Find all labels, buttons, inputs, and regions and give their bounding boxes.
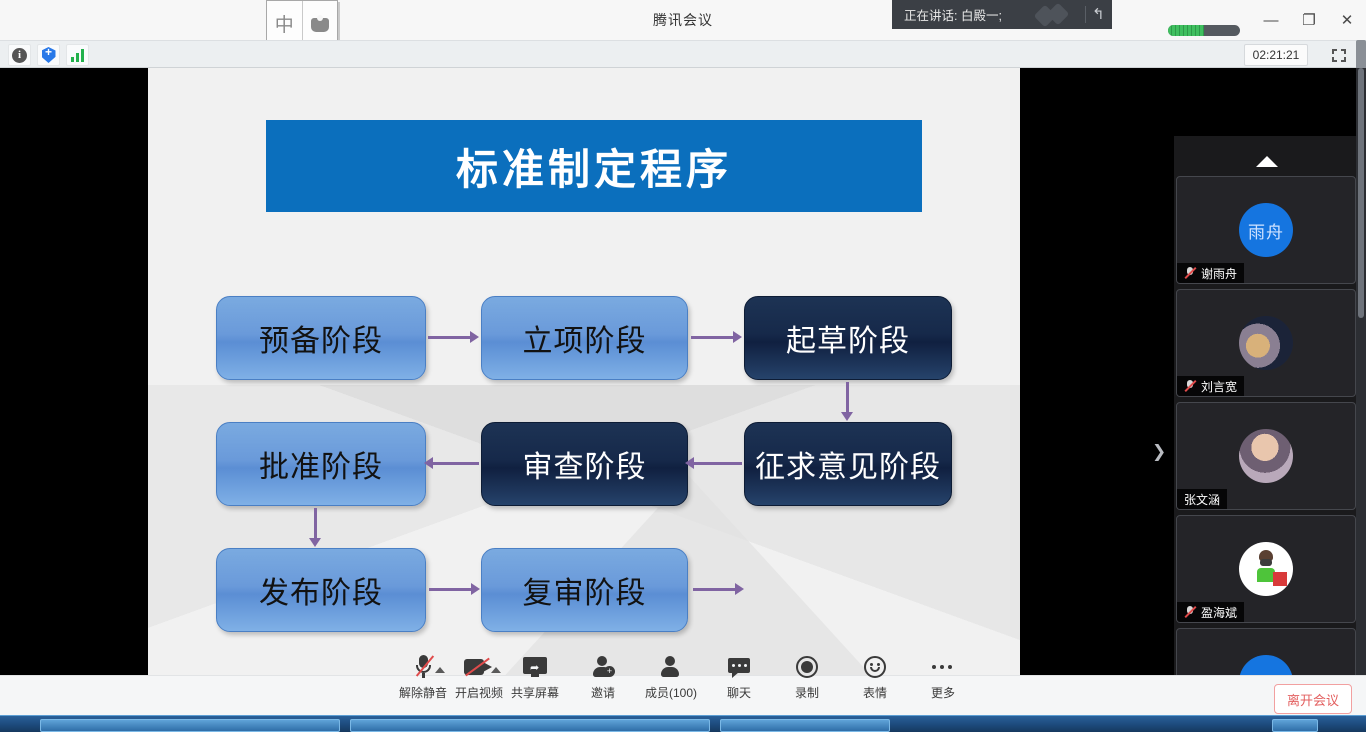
participant-name-chip: 刘言宽 — [1177, 376, 1244, 396]
participant-tile[interactable]: 刘言宽 — [1176, 289, 1356, 397]
flow-node-approval: 批准阶段 — [216, 422, 426, 506]
toolbar-label: 解除静音 — [399, 684, 447, 701]
maximize-button[interactable]: ❐ — [1290, 0, 1328, 40]
chat-button[interactable]: 聊天 — [705, 652, 773, 701]
toolbar-buttons: 解除静音 开启视频 ➦ 共享屏幕 + 邀请 成员(100) — [389, 652, 977, 701]
toolbar-label: 表情 — [863, 684, 887, 701]
speaking-label: 正在讲话: 白殿一; — [904, 5, 1002, 24]
toolbar-label: 共享屏幕 — [511, 684, 559, 701]
flow-node-public-comment: 征求意见阶段 — [744, 422, 952, 506]
close-button[interactable]: ✕ — [1328, 0, 1366, 40]
flow-node-review: 审查阶段 — [481, 422, 688, 506]
toolbar-label: 更多 — [931, 684, 955, 701]
invite-button[interactable]: + 邀请 — [569, 652, 637, 701]
participant-tile[interactable]: 张文涵 — [1176, 402, 1356, 510]
participant-name: 张文涵 — [1184, 491, 1220, 508]
collapse-filmstrip-chevron-icon[interactable]: ❯ — [1152, 442, 1166, 462]
participant-name: 谢雨舟 — [1201, 265, 1237, 282]
meeting-timer: 02:21:21 — [1244, 44, 1308, 66]
arrowhead-right — [733, 331, 742, 343]
participant-name: 刘言宽 — [1201, 378, 1237, 395]
meeting-toolbar: 解除静音 开启视频 ➦ 共享屏幕 + 邀请 成员(100) — [0, 675, 1366, 715]
arrowhead-right — [735, 583, 744, 595]
fullscreen-icon[interactable] — [1326, 44, 1352, 66]
mic-muted-icon — [1184, 266, 1196, 280]
flow-node-preparation: 预备阶段 — [216, 296, 426, 380]
arrow-project-to-draft — [691, 336, 735, 339]
arrow-comment-to-review — [694, 462, 742, 465]
video-shapes-icon — [1037, 5, 1079, 25]
shirt-icon[interactable] — [302, 1, 338, 45]
participant-name-chip: 谢雨舟 — [1177, 263, 1244, 283]
arrowhead-down — [841, 412, 853, 421]
participant-name: 盈海斌 — [1201, 604, 1237, 621]
flow-node-project-approval: 立项阶段 — [481, 296, 688, 380]
toolbar-label: 开启视频 — [455, 684, 503, 701]
windows-taskbar — [0, 715, 1366, 732]
share-screen-icon: ➦ — [523, 652, 547, 682]
record-button[interactable]: 录制 — [773, 652, 841, 701]
more-icon — [932, 652, 954, 682]
shared-slide: 标准制定程序 预备阶段 立项阶段 起草阶段 批准阶段 审查阶段 征求意见阶段 发… — [148, 68, 1020, 675]
taskbar-item[interactable] — [350, 719, 710, 732]
minimize-button[interactable]: — — [1252, 0, 1290, 40]
emoji-icon — [864, 652, 886, 682]
avatar — [1239, 316, 1293, 370]
shield-plus-icon[interactable] — [37, 44, 60, 66]
taskbar-item[interactable] — [1272, 719, 1318, 732]
mic-muted-icon — [415, 652, 432, 682]
undo-arrow-icon[interactable]: ↰ — [1092, 5, 1105, 23]
taskbar-item[interactable] — [720, 719, 890, 732]
members-button[interactable]: 成员(100) — [637, 652, 705, 701]
window-title-bar: 腾讯会议 中 正在讲话: 白殿一; ↰ — ❐ ✕ — [0, 0, 1366, 40]
arrowhead-left — [685, 457, 694, 469]
toolbar-label: 聊天 — [727, 684, 751, 701]
mic-muted-icon — [1184, 379, 1196, 393]
window-scrollbar-thumb[interactable] — [1356, 40, 1366, 70]
more-button[interactable]: 更多 — [909, 652, 977, 701]
volume-meter — [1168, 25, 1240, 36]
audio-options-caret-icon[interactable] — [435, 667, 445, 673]
arrowhead-down — [309, 538, 321, 547]
flow-node-drafting: 起草阶段 — [744, 296, 952, 380]
info-icon[interactable]: i — [8, 44, 31, 66]
speaking-indicator: 正在讲话: 白殿一; ↰ — [892, 0, 1112, 29]
participant-tile[interactable]: 盈海斌 — [1176, 515, 1356, 623]
flowchart: 预备阶段 立项阶段 起草阶段 批准阶段 审查阶段 征求意见阶段 发布阶段 复审阶… — [148, 68, 1020, 675]
invite-icon: + — [592, 652, 614, 682]
camera-off-icon — [464, 652, 494, 682]
scroll-up-arrow-icon[interactable] — [1256, 156, 1278, 167]
flow-node-re-examination: 复审阶段 — [481, 548, 688, 632]
volume-meter-fill — [1168, 25, 1204, 36]
emoji-button[interactable]: 表情 — [841, 652, 909, 701]
participant-name-chip: 盈海斌 — [1177, 602, 1244, 622]
participant-tile[interactable]: 雨舟 谢雨舟 — [1176, 176, 1356, 284]
mic-muted-icon — [1184, 605, 1196, 619]
avatar: 雨舟 — [1239, 203, 1293, 257]
toolbar-label: 成员(100) — [645, 684, 697, 701]
flow-node-publication: 发布阶段 — [216, 548, 426, 632]
participant-filmstrip: 雨舟 谢雨舟 刘言宽 张文涵 — [1174, 136, 1358, 732]
record-icon — [796, 652, 818, 682]
participant-name-chip: 张文涵 — [1177, 489, 1227, 509]
arrowhead-left — [424, 457, 433, 469]
arrow-review-to-approval — [433, 462, 479, 465]
divider — [1085, 6, 1086, 23]
filmstrip-scrollbar-thumb[interactable] — [1358, 68, 1364, 318]
secondary-toolbar: i 02:21:21 — [0, 40, 1366, 68]
chat-icon — [728, 652, 750, 682]
members-icon — [660, 652, 682, 682]
share-screen-button[interactable]: ➦ 共享屏幕 — [501, 652, 569, 701]
window-title: 腾讯会议 — [0, 0, 1366, 40]
avatar — [1239, 542, 1293, 596]
arrow-reexam-out — [693, 588, 737, 591]
toolbar-label: 邀请 — [591, 684, 615, 701]
meeting-stage: 标准制定程序 预备阶段 立项阶段 起草阶段 批准阶段 审查阶段 征求意见阶段 发… — [0, 68, 1366, 675]
toolbar-label: 录制 — [795, 684, 819, 701]
filmstrip-scrollbar[interactable] — [1356, 68, 1366, 675]
arrow-prep-to-project — [428, 336, 472, 339]
arrowhead-right — [471, 583, 480, 595]
arrow-publication-to-reexam — [429, 588, 473, 591]
arrow-approval-to-publication — [314, 508, 317, 540]
toolbar-icon-group: i — [8, 44, 89, 66]
ime-mode-label[interactable]: 中 — [267, 1, 302, 45]
leave-meeting-button[interactable]: 离开会议 — [1274, 684, 1352, 714]
taskbar-item[interactable] — [40, 719, 340, 732]
arrow-draft-to-comment — [846, 382, 849, 414]
window-controls: — ❐ ✕ — [1252, 0, 1366, 40]
signal-bars-icon[interactable] — [66, 44, 89, 66]
avatar — [1239, 429, 1293, 483]
arrowhead-right — [470, 331, 479, 343]
